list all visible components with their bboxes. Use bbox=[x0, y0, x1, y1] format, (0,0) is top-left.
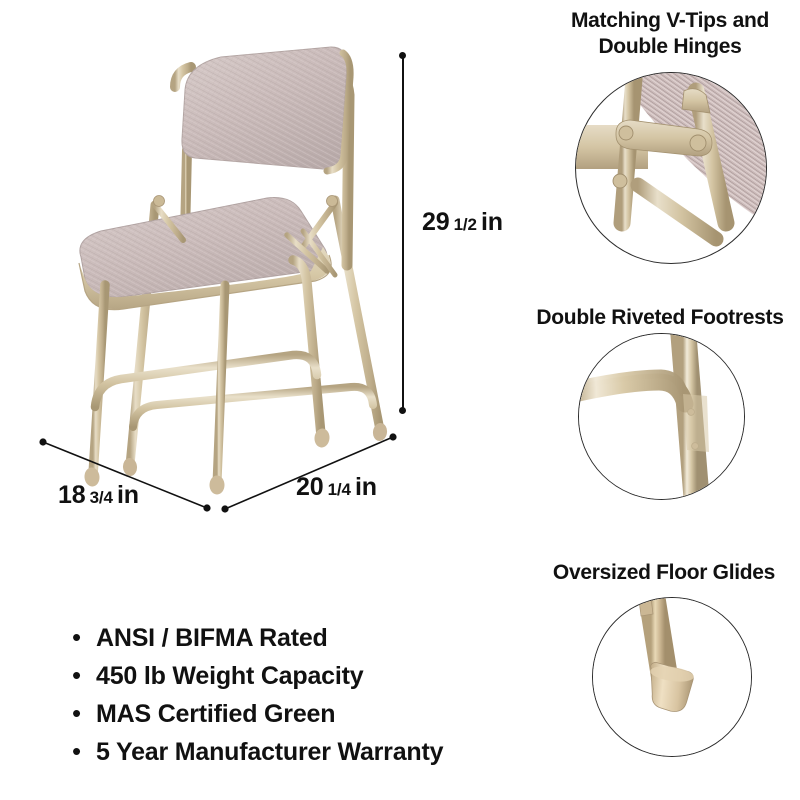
backrest-pad bbox=[182, 47, 350, 171]
list-item: • MAS Certified Green bbox=[72, 698, 542, 729]
list-item: • ANSI / BIFMA Rated bbox=[72, 622, 542, 653]
feature-text: 450 lb Weight Capacity bbox=[96, 661, 363, 691]
bullet-icon: • bbox=[72, 660, 96, 690]
height-dimension-label: 29 1/2 in bbox=[422, 208, 503, 237]
bullet-icon: • bbox=[72, 736, 96, 766]
width-dimension-line bbox=[35, 430, 225, 525]
seat-pad bbox=[79, 198, 331, 310]
callout-title-v-tips-line2: Double Hinges bbox=[540, 34, 800, 60]
height-endpoint-bottom bbox=[399, 407, 406, 414]
bullet-icon: • bbox=[72, 622, 96, 652]
callout-title-v-tips-line1: Matching V-Tips and bbox=[540, 8, 800, 34]
bullet-icon: • bbox=[72, 698, 96, 728]
feature-text: MAS Certified Green bbox=[96, 699, 335, 729]
list-item: • 450 lb Weight Capacity bbox=[72, 660, 542, 691]
depth-dimension-label: 20 1/4 in bbox=[296, 473, 377, 502]
infographic-canvas: 29 1/2 in 18 3/4 in 20 1/4 in • ANSI / B… bbox=[0, 0, 800, 800]
floor-glide-detail-photo bbox=[592, 597, 752, 757]
hinge-bracket-detail-photo bbox=[575, 72, 767, 264]
footrest-brace-detail-photo bbox=[578, 333, 745, 500]
callout-title-floor-glides: Oversized Floor Glides bbox=[528, 560, 800, 586]
width-dimension-label: 18 3/4 in bbox=[58, 481, 139, 510]
feature-text: 5 Year Manufacturer Warranty bbox=[96, 737, 443, 767]
height-dimension-line bbox=[402, 56, 404, 411]
list-item: • 5 Year Manufacturer Warranty bbox=[72, 736, 542, 767]
callout-title-footrests: Double Riveted Footrests bbox=[520, 305, 800, 331]
feature-list: • ANSI / BIFMA Rated • 450 lb Weight Cap… bbox=[72, 622, 542, 774]
feature-text: ANSI / BIFMA Rated bbox=[96, 623, 328, 653]
height-endpoint-top bbox=[399, 52, 406, 59]
